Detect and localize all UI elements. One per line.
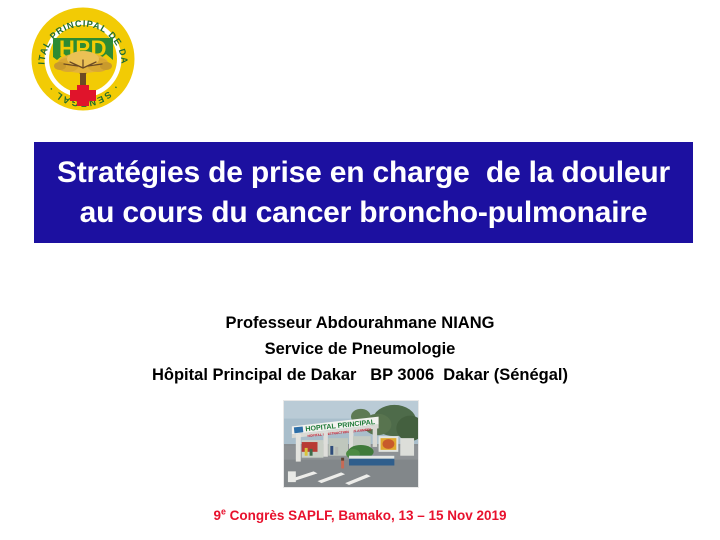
author-institution: Hôpital Principal de Dakar BP 3006 Dakar… [0, 362, 720, 388]
title-line-1: Stratégies de prise en charge de la doul… [57, 153, 670, 193]
conference-footer: 9e Congrès SAPLF, Bamako, 13 – 15 Nov 20… [0, 508, 720, 523]
author-name: Professeur Abdourahmane NIANG [0, 310, 720, 336]
title-line-2: au cours du cancer broncho-pulmonaire [80, 193, 648, 233]
footer-text: Congrès SAPLF, Bamako, 13 – 15 Nov 2019 [226, 508, 507, 523]
hpd-hospital-logo: HOPITAL PRINCIPAL DE DAKAR · SENEGAL · H… [20, 2, 146, 112]
slide-title-banner: Stratégies de prise en charge de la doul… [34, 142, 693, 243]
footer-ordinal-number: 9 [213, 508, 221, 523]
author-department: Service de Pneumologie [0, 336, 720, 362]
author-affiliation-block: Professeur Abdourahmane NIANG Service de… [0, 310, 720, 388]
hospital-entrance-photo: HOPITAL PRINCIPAL HOPITAL D'INSTRUCTION … [283, 400, 419, 488]
